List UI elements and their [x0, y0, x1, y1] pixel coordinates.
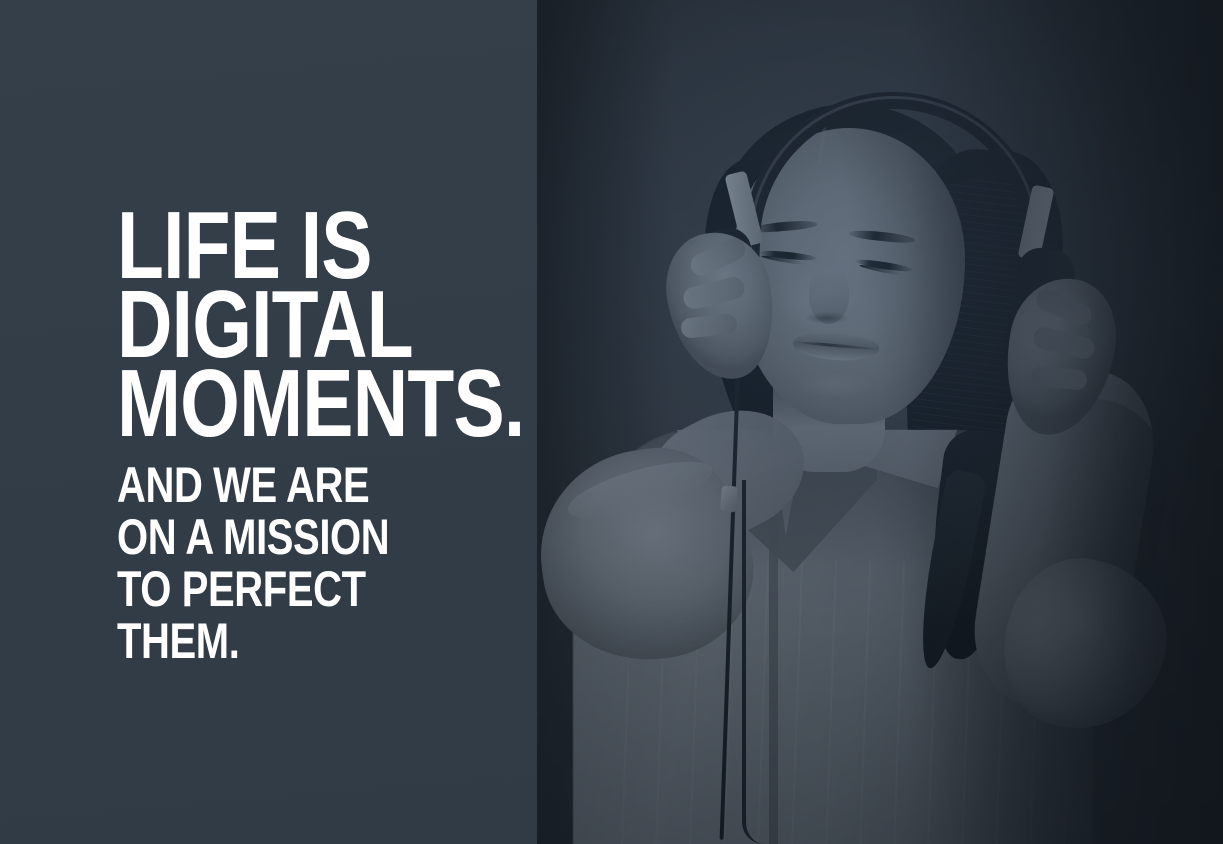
hero-photo — [537, 0, 1223, 844]
copy-block: LIFE IS DIGITAL MOMENTS. AND WE ARE ON A… — [117, 206, 547, 667]
subheadline-line-3: TO PERFECT — [117, 563, 461, 615]
subheadline-line-4: THEM. — [117, 615, 461, 667]
subheadline-line-2: ON A MISSION — [117, 511, 461, 563]
subheadline-line-1: AND WE ARE — [117, 459, 461, 511]
copy-panel: LIFE IS DIGITAL MOMENTS. AND WE ARE ON A… — [0, 0, 537, 844]
headline: LIFE IS DIGITAL MOMENTS. — [117, 206, 461, 443]
headline-line-3: MOMENTS. — [117, 364, 461, 443]
photo-vignette — [537, 0, 1223, 844]
hero-banner: LIFE IS DIGITAL MOMENTS. AND WE ARE ON A… — [0, 0, 1223, 844]
subheadline: AND WE ARE ON A MISSION TO PERFECT THEM. — [117, 459, 461, 667]
